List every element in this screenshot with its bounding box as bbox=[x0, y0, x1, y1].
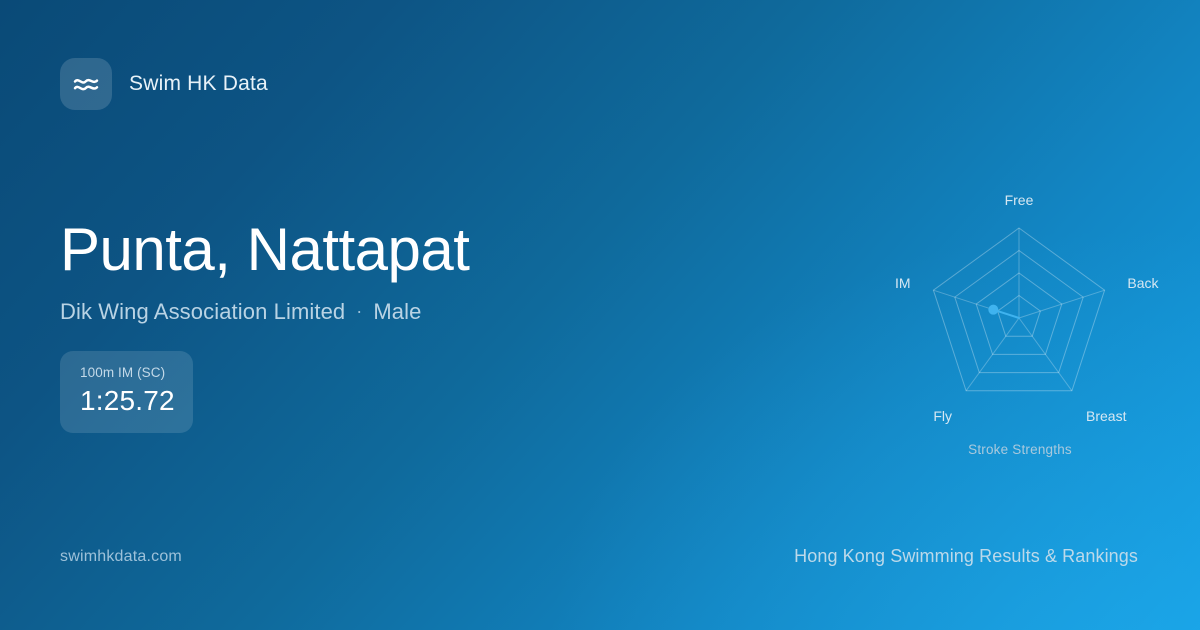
radar-axis-label-im: IM bbox=[895, 275, 911, 291]
stat-time-value: 1:25.72 bbox=[80, 385, 175, 417]
radar-axis-label-back: Back bbox=[1127, 275, 1159, 291]
radar-axis-label-breast: Breast bbox=[1086, 408, 1127, 424]
radar-axis-label-free: Free bbox=[1005, 192, 1034, 208]
meta-separator: · bbox=[356, 301, 362, 322]
athlete-gender: Male bbox=[373, 299, 421, 325]
stroke-strengths-radar-chart: FreeBackBreastFlyIM Stroke Strengths bbox=[860, 170, 1180, 470]
social-preview-card: Swim HK Data Punta, Nattapat Dik Wing As… bbox=[0, 0, 1200, 630]
hero-block: Punta, Nattapat Dik Wing Association Lim… bbox=[60, 218, 760, 325]
stat-event-label: 100m IM (SC) bbox=[80, 365, 175, 380]
athlete-club: Dik Wing Association Limited bbox=[60, 299, 345, 325]
wave-icon bbox=[60, 58, 112, 110]
footer-site-url: swimhkdata.com bbox=[60, 548, 182, 566]
radar-axis-labels: FreeBackBreastFlyIM bbox=[895, 192, 1159, 424]
radar-caption: Stroke Strengths bbox=[860, 442, 1180, 457]
athlete-meta: Dik Wing Association Limited · Male bbox=[60, 299, 760, 325]
brand-name: Swim HK Data bbox=[129, 72, 268, 96]
radar-spoke bbox=[1019, 290, 1105, 318]
footer-tagline: Hong Kong Swimming Results & Rankings bbox=[794, 546, 1138, 567]
stat-card: 100m IM (SC) 1:25.72 bbox=[60, 351, 193, 433]
radar-axis-label-fly: Fly bbox=[933, 408, 952, 424]
radar-data-point bbox=[988, 305, 998, 315]
brand-header: Swim HK Data bbox=[60, 58, 268, 110]
page-title: Punta, Nattapat bbox=[60, 218, 760, 283]
